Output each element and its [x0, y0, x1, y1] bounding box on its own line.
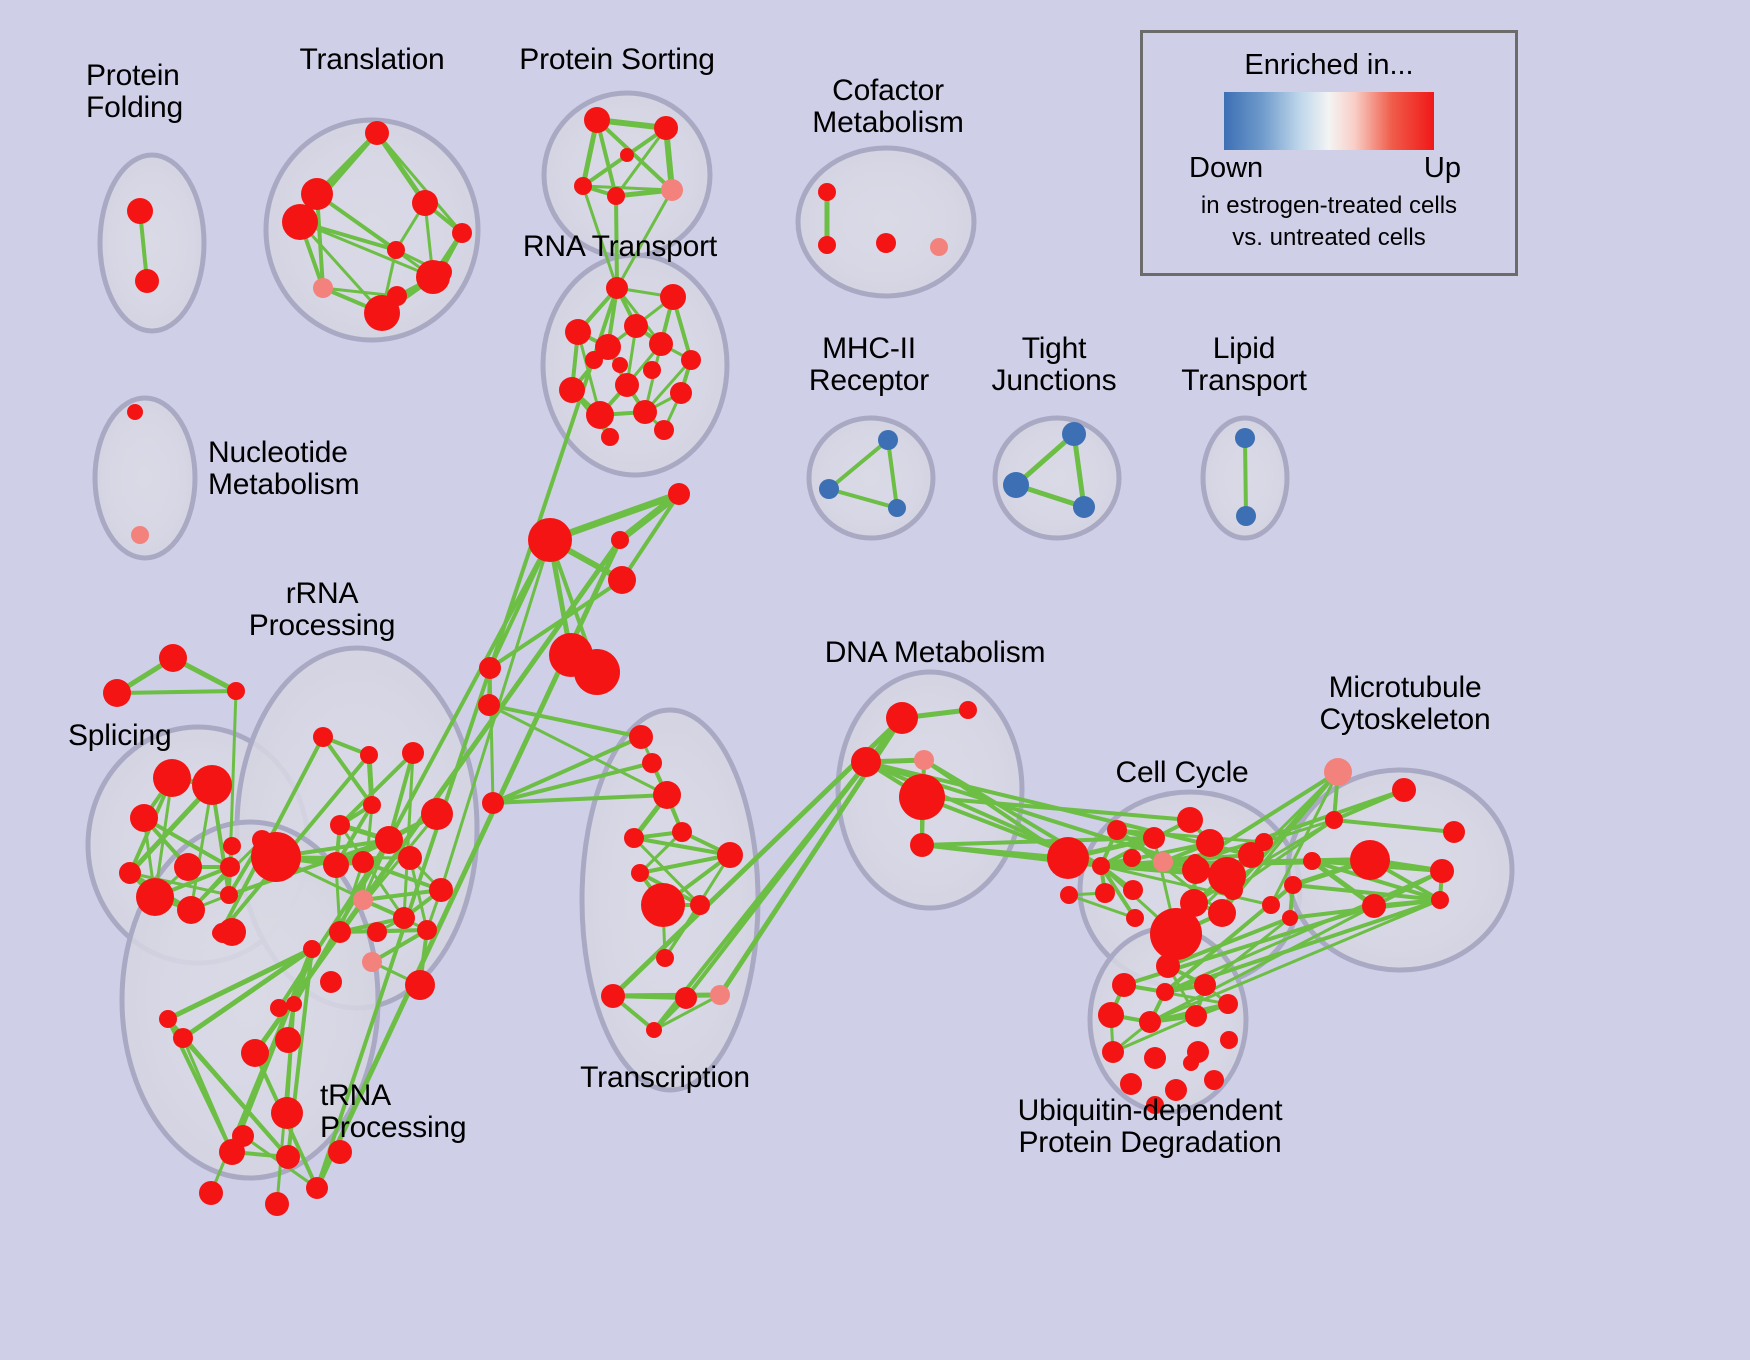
network-node[interactable] — [1126, 909, 1144, 927]
network-node[interactable] — [565, 319, 591, 345]
network-edge[interactable] — [117, 691, 236, 693]
network-node[interactable] — [159, 644, 187, 672]
network-node[interactable] — [690, 895, 710, 915]
network-node[interactable] — [303, 940, 321, 958]
network-node[interactable] — [478, 694, 500, 716]
network-node[interactable] — [819, 479, 839, 499]
network-node[interactable] — [642, 753, 662, 773]
enrichment-map-canvas: ProteinFoldingTranslationProtein Sorting… — [0, 0, 1750, 1360]
network-node[interactable] — [1143, 827, 1165, 849]
network-node[interactable] — [1204, 1070, 1224, 1090]
network-node[interactable] — [1156, 983, 1174, 1001]
network-node[interactable] — [1185, 1005, 1207, 1027]
network-edge[interactable] — [1245, 438, 1246, 516]
cluster-label-protein-folding: ProteinFolding — [86, 60, 183, 125]
cluster-label-protein-sorting: Protein Sorting — [519, 44, 714, 76]
network-node[interactable] — [251, 832, 301, 882]
network-node[interactable] — [353, 890, 373, 910]
cluster-label-line: Ubiquitin-dependent — [1018, 1095, 1283, 1127]
network-node[interactable] — [405, 970, 435, 1000]
network-node[interactable] — [177, 896, 205, 924]
network-node[interactable] — [270, 999, 288, 1017]
network-node[interactable] — [574, 649, 620, 695]
network-node[interactable] — [103, 679, 131, 707]
cluster-label-splicing: Splicing — [68, 720, 171, 752]
network-node[interactable] — [608, 566, 636, 594]
network-node[interactable] — [710, 985, 730, 1005]
network-node[interactable] — [899, 774, 945, 820]
cluster-label-rrna-processing: rRNAProcessing — [249, 578, 395, 643]
cluster-label-line: Folding — [86, 92, 183, 124]
network-edge[interactable] — [613, 995, 720, 996]
network-node[interactable] — [329, 921, 351, 943]
network-node[interactable] — [1073, 496, 1095, 518]
cluster-label-rna-transport: RNA Transport — [523, 231, 717, 263]
cluster-label-lipid-transport: LipidTransport — [1181, 333, 1306, 398]
network-node[interactable] — [1392, 778, 1416, 802]
network-node[interactable] — [672, 822, 692, 842]
network-node[interactable] — [641, 883, 685, 927]
network-node[interactable] — [1095, 883, 1115, 903]
network-node[interactable] — [199, 1181, 223, 1205]
network-node[interactable] — [375, 826, 403, 854]
network-node[interactable] — [818, 236, 836, 254]
network-node[interactable] — [220, 857, 240, 877]
network-node[interactable] — [173, 1028, 193, 1048]
network-node[interactable] — [959, 701, 977, 719]
legend-up-label: Up — [1424, 152, 1461, 185]
cluster-label-line: DNA Metabolism — [825, 637, 1046, 669]
network-node[interactable] — [930, 238, 948, 256]
network-node[interactable] — [910, 833, 934, 857]
network-node[interactable] — [1123, 880, 1143, 900]
network-node[interactable] — [643, 361, 661, 379]
cluster-label-line: Processing — [249, 610, 395, 642]
network-node[interactable] — [1112, 973, 1136, 997]
network-node[interactable] — [631, 864, 649, 882]
cluster-label-dna-metabolism: DNA Metabolism — [825, 637, 1046, 669]
network-node[interactable] — [1120, 1073, 1142, 1095]
network-node[interactable] — [352, 851, 374, 873]
network-node[interactable] — [482, 792, 504, 814]
legend-endpoint-labels: Down Up — [1179, 152, 1479, 188]
network-node[interactable] — [136, 878, 174, 916]
network-node[interactable] — [364, 295, 400, 331]
network-node[interactable] — [1144, 1047, 1166, 1069]
network-node[interactable] — [1282, 910, 1298, 926]
cluster-label-line: Processing — [320, 1112, 466, 1144]
network-node[interactable] — [1235, 428, 1255, 448]
cluster-label-line: Transport — [1181, 365, 1306, 397]
network-node[interactable] — [633, 400, 657, 424]
network-node[interactable] — [1092, 857, 1110, 875]
network-node[interactable] — [670, 382, 692, 404]
network-node[interactable] — [1220, 1031, 1238, 1049]
network-node[interactable] — [479, 657, 501, 679]
cluster-label-trna-processing: tRNAProcessing — [320, 1080, 466, 1145]
network-node[interactable] — [661, 179, 683, 201]
network-node[interactable] — [646, 1022, 662, 1038]
cluster-label-line: Protein — [86, 60, 183, 92]
network-node[interactable] — [1362, 894, 1386, 918]
network-node[interactable] — [393, 907, 415, 929]
cluster-ellipse-protein-folding[interactable] — [100, 155, 204, 331]
network-node[interactable] — [1123, 849, 1141, 867]
network-node[interactable] — [612, 357, 628, 373]
network-node[interactable] — [654, 420, 674, 440]
network-node[interactable] — [1431, 891, 1449, 909]
network-node[interactable] — [584, 107, 610, 133]
network-node[interactable] — [313, 727, 333, 747]
network-node[interactable] — [1062, 422, 1086, 446]
network-node[interactable] — [412, 190, 438, 216]
network-node[interactable] — [1180, 889, 1208, 917]
cluster-label-nucleotide-metabolism: NucleotideMetabolism — [208, 437, 359, 502]
cluster-label-cell-cycle: Cell Cycle — [1115, 757, 1248, 789]
network-node[interactable] — [653, 781, 681, 809]
network-node[interactable] — [1156, 954, 1180, 978]
network-node[interactable] — [421, 798, 453, 830]
network-node[interactable] — [601, 984, 625, 1008]
cluster-label-line: tRNA — [320, 1080, 466, 1112]
cluster-ellipse-cofactor-metabolism[interactable] — [798, 148, 974, 296]
network-node[interactable] — [119, 862, 141, 884]
network-node[interactable] — [1350, 840, 1390, 880]
network-node[interactable] — [681, 350, 701, 370]
network-node[interactable] — [452, 223, 472, 243]
network-node[interactable] — [607, 187, 625, 205]
cluster-label-mhc-ii-receptor: MHC-IIReceptor — [809, 333, 929, 398]
network-node[interactable] — [1098, 1002, 1124, 1028]
network-node[interactable] — [1187, 854, 1203, 870]
network-node[interactable] — [313, 278, 333, 298]
network-node[interactable] — [275, 1027, 301, 1053]
network-node[interactable] — [286, 996, 302, 1012]
cluster-label-transcription: Transcription — [580, 1062, 750, 1094]
network-node[interactable] — [130, 804, 158, 832]
network-node[interactable] — [127, 404, 143, 420]
network-node[interactable] — [1325, 811, 1343, 829]
cluster-label-line: Tight — [992, 333, 1117, 365]
network-node[interactable] — [660, 284, 686, 310]
network-node[interactable] — [1284, 876, 1302, 894]
cluster-label-line: Cytoskeleton — [1319, 704, 1490, 736]
network-node[interactable] — [1324, 758, 1352, 786]
cluster-label-cofactor-metabolism: CofactorMetabolism — [812, 75, 963, 140]
legend-down-label: Down — [1189, 152, 1263, 185]
network-node[interactable] — [1443, 821, 1465, 843]
network-node[interactable] — [1208, 899, 1236, 927]
network-node[interactable] — [127, 198, 153, 224]
network-node[interactable] — [675, 987, 697, 1009]
network-node[interactable] — [363, 796, 381, 814]
network-node[interactable] — [1139, 1011, 1161, 1033]
cluster-label-line: MHC-II — [809, 333, 929, 365]
network-node[interactable] — [878, 430, 898, 450]
cluster-label-line: Translation — [299, 44, 444, 76]
network-node[interactable] — [360, 746, 378, 764]
network-node[interactable] — [135, 269, 159, 293]
cluster-label-line: Metabolism — [812, 107, 963, 139]
cluster-label-line: rRNA — [249, 578, 395, 610]
network-node[interactable] — [876, 233, 896, 253]
network-node[interactable] — [323, 852, 349, 878]
network-node[interactable] — [416, 260, 450, 294]
network-node[interactable] — [1223, 880, 1243, 900]
network-node[interactable] — [131, 526, 149, 544]
network-node[interactable] — [1194, 974, 1216, 996]
network-node[interactable] — [220, 886, 238, 904]
network-node[interactable] — [668, 483, 690, 505]
network-node[interactable] — [232, 1125, 254, 1147]
network-node[interactable] — [276, 1145, 300, 1169]
network-node[interactable] — [1177, 807, 1203, 833]
cluster-ellipse-mhc-ii-receptor[interactable] — [809, 418, 933, 538]
legend-subtitle-line-2: vs. untreated cells — [1143, 224, 1515, 252]
network-node[interactable] — [1003, 472, 1029, 498]
cluster-label-translation: Translation — [299, 44, 444, 76]
network-node[interactable] — [215, 926, 227, 938]
cluster-label-ubiquitin-protein-degradation: Ubiquitin-dependentProtein Degradation — [1018, 1095, 1283, 1160]
cluster-label-line: Metabolism — [208, 469, 359, 501]
network-node[interactable] — [629, 725, 653, 749]
network-node[interactable] — [192, 765, 232, 805]
network-node[interactable] — [624, 828, 644, 848]
network-node[interactable] — [227, 682, 245, 700]
network-node[interactable] — [624, 314, 648, 338]
network-node[interactable] — [649, 332, 673, 356]
network-node[interactable] — [330, 815, 350, 835]
network-node[interactable] — [586, 401, 614, 429]
cluster-label-line: Nucleotide — [208, 437, 359, 469]
cluster-label-line: Transcription — [580, 1062, 750, 1094]
network-node[interactable] — [1430, 859, 1454, 883]
network-node[interactable] — [611, 531, 629, 549]
network-node[interactable] — [1262, 896, 1280, 914]
network-edge[interactable] — [489, 705, 641, 737]
network-node[interactable] — [265, 1192, 289, 1216]
network-node[interactable] — [559, 377, 585, 403]
cluster-label-tight-junctions: TightJunctions — [992, 333, 1117, 398]
network-node[interactable] — [1047, 837, 1089, 879]
network-node[interactable] — [367, 922, 387, 942]
network-node[interactable] — [818, 183, 836, 201]
network-node[interactable] — [306, 1177, 328, 1199]
network-node[interactable] — [1255, 833, 1273, 851]
network-node[interactable] — [1102, 1041, 1124, 1063]
network-node[interactable] — [1183, 1055, 1199, 1071]
network-node[interactable] — [1218, 994, 1238, 1014]
network-node[interactable] — [153, 759, 191, 797]
network-node[interactable] — [1060, 886, 1078, 904]
network-node[interactable] — [365, 121, 389, 145]
network-node[interactable] — [159, 1010, 177, 1028]
network-node[interactable] — [886, 702, 918, 734]
network-node[interactable] — [1196, 829, 1224, 857]
network-node[interactable] — [241, 1039, 269, 1067]
network-node[interactable] — [1303, 852, 1321, 870]
network-node[interactable] — [615, 373, 639, 397]
network-node[interactable] — [1153, 852, 1173, 872]
cluster-label-microtubule-cytoskeleton: MicrotubuleCytoskeleton — [1319, 672, 1490, 737]
cluster-label-line: Receptor — [809, 365, 929, 397]
network-node[interactable] — [1236, 506, 1256, 526]
cluster-label-line: Lipid — [1181, 333, 1306, 365]
network-node[interactable] — [574, 177, 592, 195]
cluster-label-line: Microtubule — [1319, 672, 1490, 704]
network-node[interactable] — [585, 351, 603, 369]
cluster-label-line: Protein Degradation — [1018, 1127, 1283, 1159]
network-node[interactable] — [656, 949, 674, 967]
network-node[interactable] — [528, 518, 572, 562]
legend-subtitle-line-1: in estrogen-treated cells — [1143, 192, 1515, 220]
cluster-label-line: Protein Sorting — [519, 44, 714, 76]
network-node[interactable] — [606, 277, 628, 299]
legend-box: Enriched in... Down Up in estrogen-treat… — [1140, 30, 1518, 276]
network-node[interactable] — [387, 241, 405, 259]
network-node[interactable] — [429, 878, 453, 902]
network-node[interactable] — [417, 920, 437, 940]
network-node[interactable] — [888, 499, 906, 517]
network-node[interactable] — [398, 846, 422, 870]
legend-title: Enriched in... — [1143, 49, 1515, 82]
network-node[interactable] — [223, 837, 241, 855]
network-node[interactable] — [620, 148, 634, 162]
network-node[interactable] — [402, 742, 424, 764]
network-node[interactable] — [914, 750, 934, 770]
network-node[interactable] — [271, 1097, 303, 1129]
cluster-label-line: Splicing — [68, 720, 171, 752]
network-node[interactable] — [654, 116, 678, 140]
network-node[interactable] — [601, 428, 619, 446]
network-node[interactable] — [282, 204, 318, 240]
cluster-label-line: RNA Transport — [523, 231, 717, 263]
network-node[interactable] — [320, 971, 342, 993]
cluster-label-line: Cell Cycle — [1115, 757, 1248, 789]
network-node[interactable] — [1107, 820, 1127, 840]
network-node[interactable] — [851, 747, 881, 777]
network-node[interactable] — [362, 952, 382, 972]
cluster-label-line: Cofactor — [812, 75, 963, 107]
legend-color-gradient-bar — [1224, 92, 1434, 150]
cluster-label-line: Junctions — [992, 365, 1117, 397]
network-node[interactable] — [174, 853, 202, 881]
network-node[interactable] — [717, 842, 743, 868]
